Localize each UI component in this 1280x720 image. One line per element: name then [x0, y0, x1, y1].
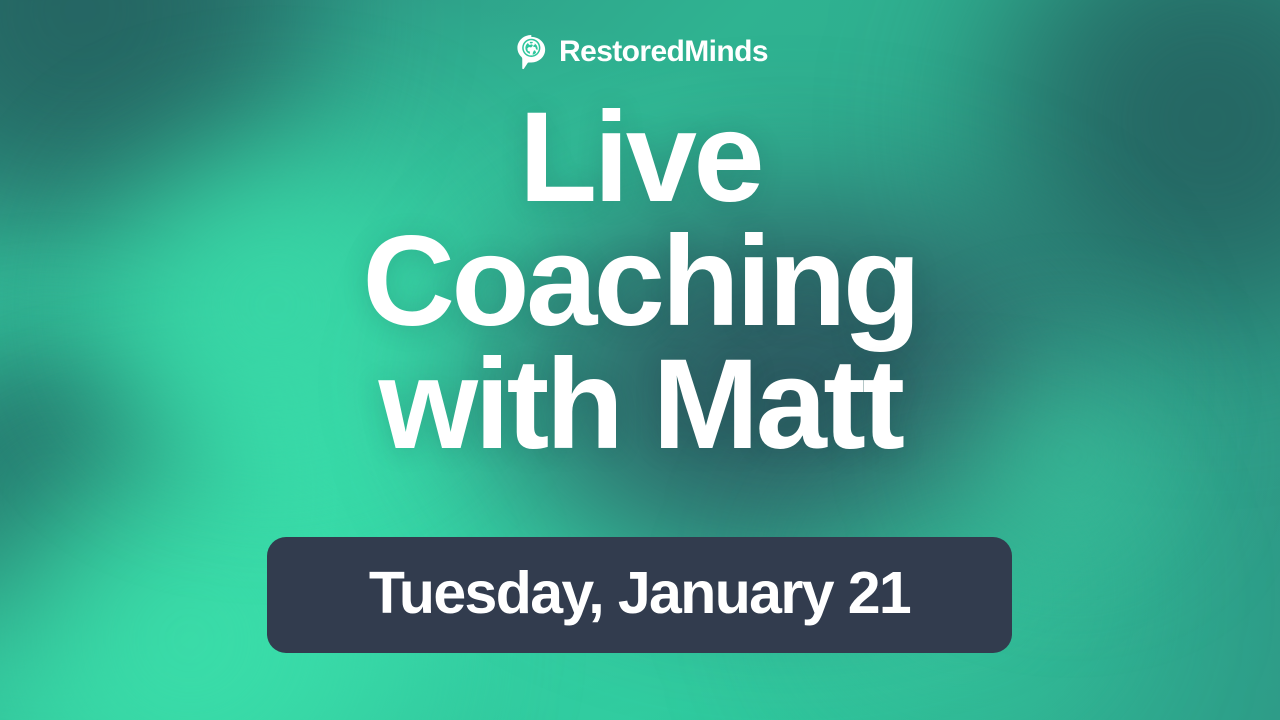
brand-logo: RestoredMinds — [512, 30, 768, 74]
headline-line-1: Live — [0, 96, 1280, 220]
brand-name-part-two: Minds — [684, 35, 768, 68]
date-badge-text: Tuesday, January 21 — [369, 564, 910, 626]
brand-name: RestoredMinds — [559, 37, 768, 67]
promo-slide: RestoredMinds Live Coaching with Matt Tu… — [0, 0, 1280, 720]
brand-name-part-one: Restored — [559, 35, 684, 68]
headline: Live Coaching with Matt — [0, 96, 1280, 467]
headline-line-2: Coaching — [0, 220, 1280, 344]
date-badge: Tuesday, January 21 — [267, 537, 1012, 653]
headline-line-3: with Matt — [0, 343, 1280, 467]
head-with-globe-icon — [512, 33, 550, 71]
